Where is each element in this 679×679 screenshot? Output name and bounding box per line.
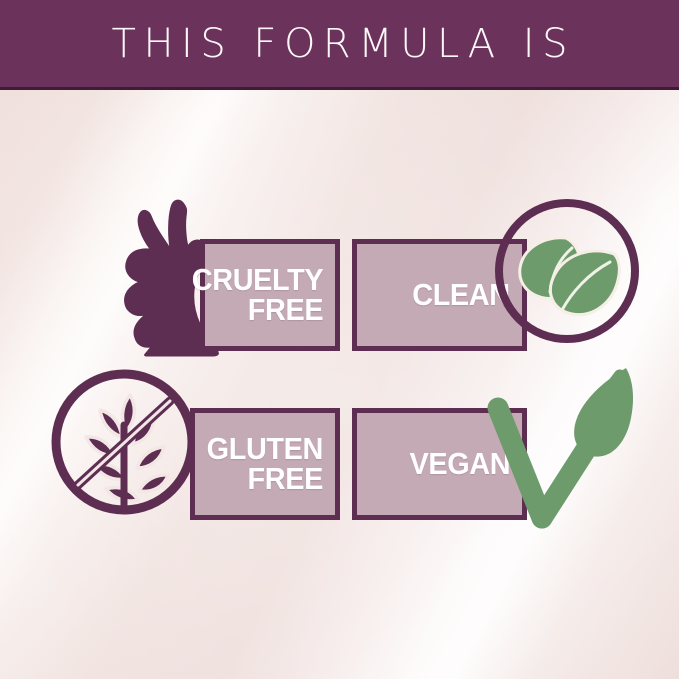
badge-vegan-label: VEGAN: [409, 449, 522, 479]
header-banner: THIS FORMULA IS: [0, 0, 679, 90]
no-wheat-icon: [48, 365, 200, 520]
badge-gluten-free-box: GLUTEN FREE: [190, 408, 340, 520]
badge-vegan[interactable]: VEGAN: [352, 360, 644, 530]
badge-cruelty-free-box: CRUELTY FREE: [200, 239, 340, 351]
badge-vegan-box: VEGAN: [352, 408, 527, 520]
badge-cruelty-free[interactable]: CRUELTY FREE: [110, 196, 340, 356]
badge-gluten-free-label: GLUTEN FREE: [207, 434, 335, 494]
badge-clean-box: CLEAN: [352, 239, 527, 351]
formula-claims-poster: THIS FORMULA IS CRUELTY FREE CLEAN: [0, 0, 679, 679]
badge-gluten-free[interactable]: GLUTEN FREE: [48, 365, 340, 525]
badge-clean[interactable]: CLEAN: [352, 196, 642, 356]
badge-clean-label: CLEAN: [412, 280, 522, 310]
badge-cruelty-free-label: CRUELTY FREE: [192, 265, 335, 325]
page-title: THIS FORMULA IS: [104, 21, 575, 67]
